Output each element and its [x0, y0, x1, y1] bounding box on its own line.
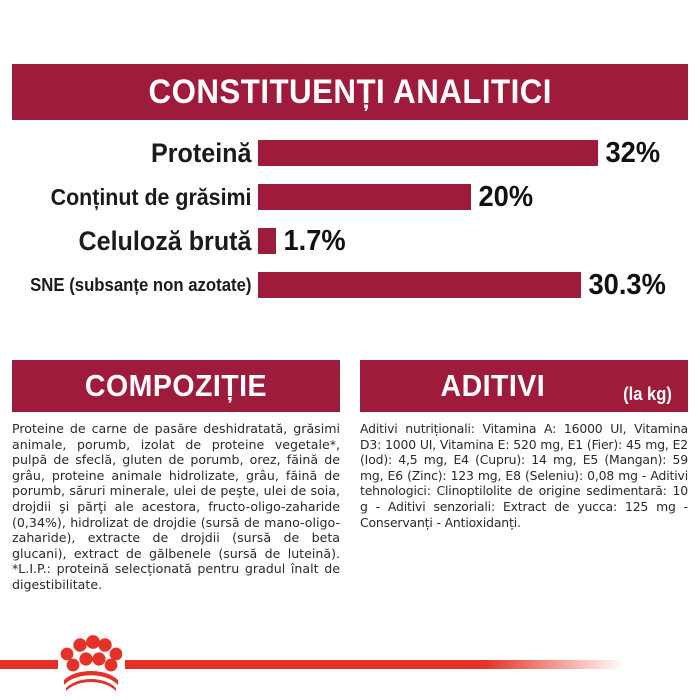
chart-category-label: SNE (subsanțe non azotate)	[18, 275, 258, 296]
additives-header: ADITIVI (la kg)	[360, 360, 688, 412]
footer-rule-left	[0, 660, 58, 669]
chart-category-label: Proteină	[18, 138, 258, 169]
composition-panel: COMPOZIȚIE Proteine de carne de pasăre d…	[12, 360, 340, 593]
chart-row: Celuloză brută 1.7%	[0, 220, 700, 262]
additives-panel: ADITIVI (la kg) Aditivi nutriționali: Vi…	[360, 360, 688, 530]
royal-canin-crown-icon	[60, 634, 122, 692]
chart-row: Proteină 32%	[0, 132, 700, 174]
chart-bar-proteina	[258, 140, 598, 166]
chart-bar-sne	[258, 272, 581, 298]
chart-value-label: 32%	[598, 137, 660, 170]
chart-value-label: 30.3%	[581, 269, 666, 302]
chart-bar-celuloza	[258, 228, 276, 254]
composition-title: COMPOZIȚIE	[85, 368, 267, 404]
composition-header: COMPOZIȚIE	[12, 360, 340, 412]
analytical-constituents-title: CONSTITUENȚI ANALITICI	[148, 73, 551, 112]
footer	[0, 630, 700, 700]
chart-value-label: 20%	[471, 181, 533, 214]
analytical-constituents-bar-chart: Proteină 32% Conținut de grăsimi 20% Cel…	[0, 132, 700, 322]
footer-rule-right	[125, 660, 625, 669]
chart-row: Conținut de grăsimi 20%	[0, 176, 700, 218]
additives-unit-note: (la kg)	[623, 384, 672, 405]
chart-category-label: Celuloză brută	[18, 226, 258, 257]
composition-text: Proteine de carne de pasăre deshidratată…	[12, 421, 340, 593]
chart-bar-grasimi	[258, 184, 471, 210]
analytical-constituents-header: CONSTITUENȚI ANALITICI	[12, 64, 688, 120]
chart-value-label: 1.7%	[276, 225, 346, 258]
chart-row: SNE (subsanțe non azotate) 30.3%	[0, 264, 700, 306]
chart-category-label: Conținut de grăsimi	[18, 184, 258, 211]
additives-text: Aditivi nutriționali: Vitamina A: 16000 …	[360, 421, 688, 530]
additives-title: ADITIVI	[441, 368, 546, 404]
